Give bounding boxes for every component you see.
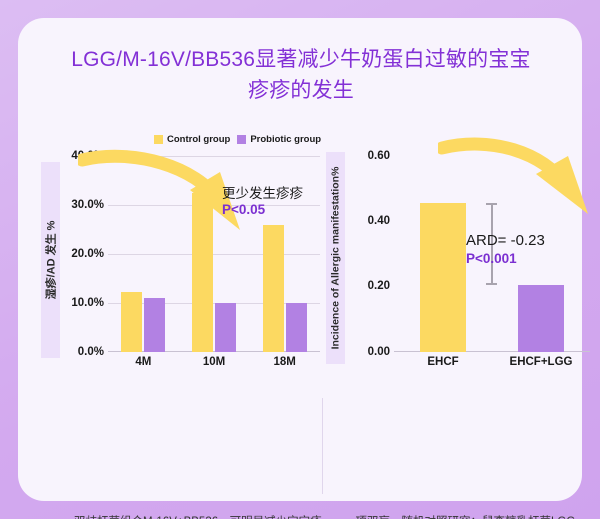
- bar-ehcf-lgg: [518, 285, 564, 352]
- right-chart-y-axis-label: Incidence of Allergic manifestation%: [326, 152, 345, 364]
- y-tick: 0.20: [368, 280, 390, 292]
- x-tick: 4M: [108, 356, 179, 368]
- charts-container: 湿疹/AD 发生 % Control group Probiotic group: [36, 128, 600, 503]
- legend-item-control: Control group: [154, 134, 230, 145]
- y-tick: 10.0%: [71, 297, 104, 309]
- content-card: LGG/M-16V/BB536显著减少牛奶蛋白过敏的宝宝 疹疹的发生 湿疹/AD…: [18, 18, 582, 501]
- right-panel-caption: 一项双盲、随机对照研究：鼠李糖乳杆菌LGG与EHCF合用可显著减少牛奶过敏伴随的…: [344, 513, 580, 519]
- title-line-2: 疹疹的发生: [58, 75, 544, 106]
- bar-ehcf: [420, 203, 466, 352]
- infographic-root: LGG/M-16V/BB536显著减少牛奶蛋白过敏的宝宝 疹疹的发生 湿疹/AD…: [0, 0, 600, 519]
- y-tick: 20.0%: [71, 248, 104, 260]
- legend-item-probiotic: Probiotic group: [237, 134, 321, 145]
- legend-label-control: Control group: [167, 134, 230, 145]
- y-tick: 30.0%: [71, 199, 104, 211]
- error-bar-cap-top: [486, 203, 497, 205]
- annotation-pvalue: P<0.05: [222, 202, 303, 218]
- legend-swatch-control-icon: [154, 135, 163, 144]
- left-chart-x-ticks: 4M 10M 18M: [108, 356, 320, 368]
- left-chart-annotation: 更少发生疹疹 P<0.05: [222, 186, 303, 218]
- x-tick: EHCF+LGG: [492, 356, 590, 368]
- y-tick: 0.60: [368, 150, 390, 162]
- right-chart-y-ticks: 0.00 0.20 0.40 0.60: [344, 156, 390, 352]
- panel-divider: [322, 398, 323, 494]
- left-panel-caption: 双歧杆菌组合M-16V+BB536，可明显减少宝宝疹疹的发生: [74, 513, 324, 519]
- right-panel: Incidence of Allergic manifestation% 0.0…: [326, 128, 600, 503]
- bar-probiotic-18m: [286, 303, 307, 352]
- left-chart-y-ticks: 0.0% 10.0% 20.0% 30.0% 40.0%: [58, 156, 104, 352]
- legend-swatch-probiotic-icon: [237, 135, 246, 144]
- left-chart-legend: Control group Probiotic group: [154, 134, 321, 145]
- bar-control-10m: [192, 193, 213, 352]
- annotation-text: ARD= -0.23: [466, 232, 545, 250]
- bar-group-4m: [108, 156, 179, 352]
- bar-control-4m: [121, 292, 142, 352]
- bar-control-18m: [263, 225, 284, 352]
- x-tick: 10M: [179, 356, 250, 368]
- y-tick: 40.0%: [71, 150, 104, 162]
- bar-probiotic-4m: [144, 298, 165, 352]
- annotation-text: 更少发生疹疹: [222, 186, 303, 202]
- x-tick: 18M: [249, 356, 320, 368]
- title-line-1: LGG/M-16V/BB536显著减少牛奶蛋白过敏的宝宝: [58, 44, 544, 75]
- legend-label-probiotic: Probiotic group: [250, 134, 321, 145]
- bar-probiotic-10m: [215, 303, 236, 352]
- y-tick: 0.40: [368, 215, 390, 227]
- annotation-pvalue: P<0.001: [466, 250, 545, 268]
- eczema-incidence-bar-chart: 湿疹/AD 发生 % Control group Probiotic group: [36, 134, 326, 384]
- right-chart-annotation: ARD= -0.23 P<0.001: [466, 232, 545, 268]
- y-tick: 0.0%: [78, 346, 104, 358]
- error-bar-cap-bottom: [486, 283, 497, 285]
- allergic-manifestation-bar-chart: Incidence of Allergic manifestation% 0.0…: [326, 134, 600, 384]
- right-chart-x-ticks: EHCF EHCF+LGG: [394, 356, 590, 368]
- x-tick: EHCF: [394, 356, 492, 368]
- y-tick: 0.00: [368, 346, 390, 358]
- left-panel: 湿疹/AD 发生 % Control group Probiotic group: [36, 128, 326, 503]
- page-title: LGG/M-16V/BB536显著减少牛奶蛋白过敏的宝宝 疹疹的发生: [58, 44, 544, 106]
